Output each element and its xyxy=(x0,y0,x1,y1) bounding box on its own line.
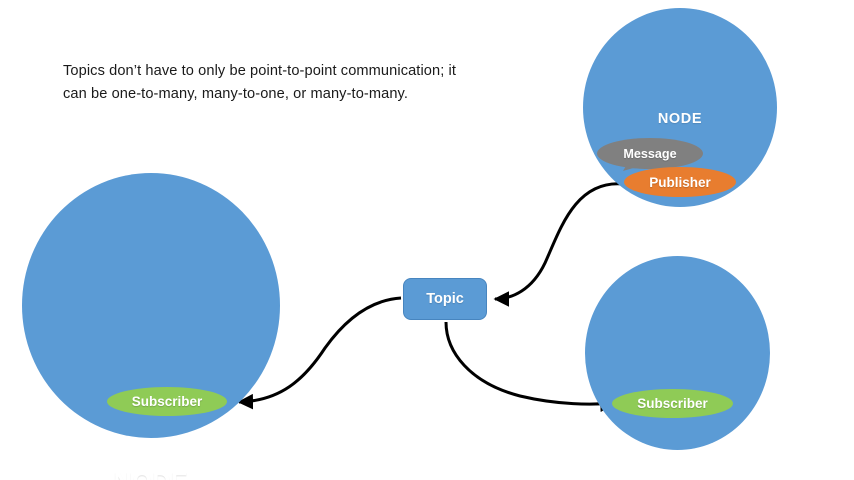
message-callout[interactable]: Message xyxy=(597,138,703,171)
message-label: Message xyxy=(597,138,703,169)
arrow-publisher-to-topic xyxy=(495,184,623,299)
node-left-label: NODE xyxy=(22,468,280,480)
subscriber-pill-bottom-right[interactable]: Subscriber xyxy=(612,389,733,418)
subscriber-pill-left[interactable]: Subscriber xyxy=(107,387,227,416)
node-top-right-label: NODE xyxy=(583,111,777,127)
publisher-pill-top-right[interactable]: Publisher xyxy=(624,167,736,197)
node-circle-bottom-right[interactable]: NODE xyxy=(585,256,770,450)
slide-canvas: Topics don’t have to only be point-to-po… xyxy=(0,0,854,480)
topic-box[interactable]: Topic xyxy=(403,278,487,320)
